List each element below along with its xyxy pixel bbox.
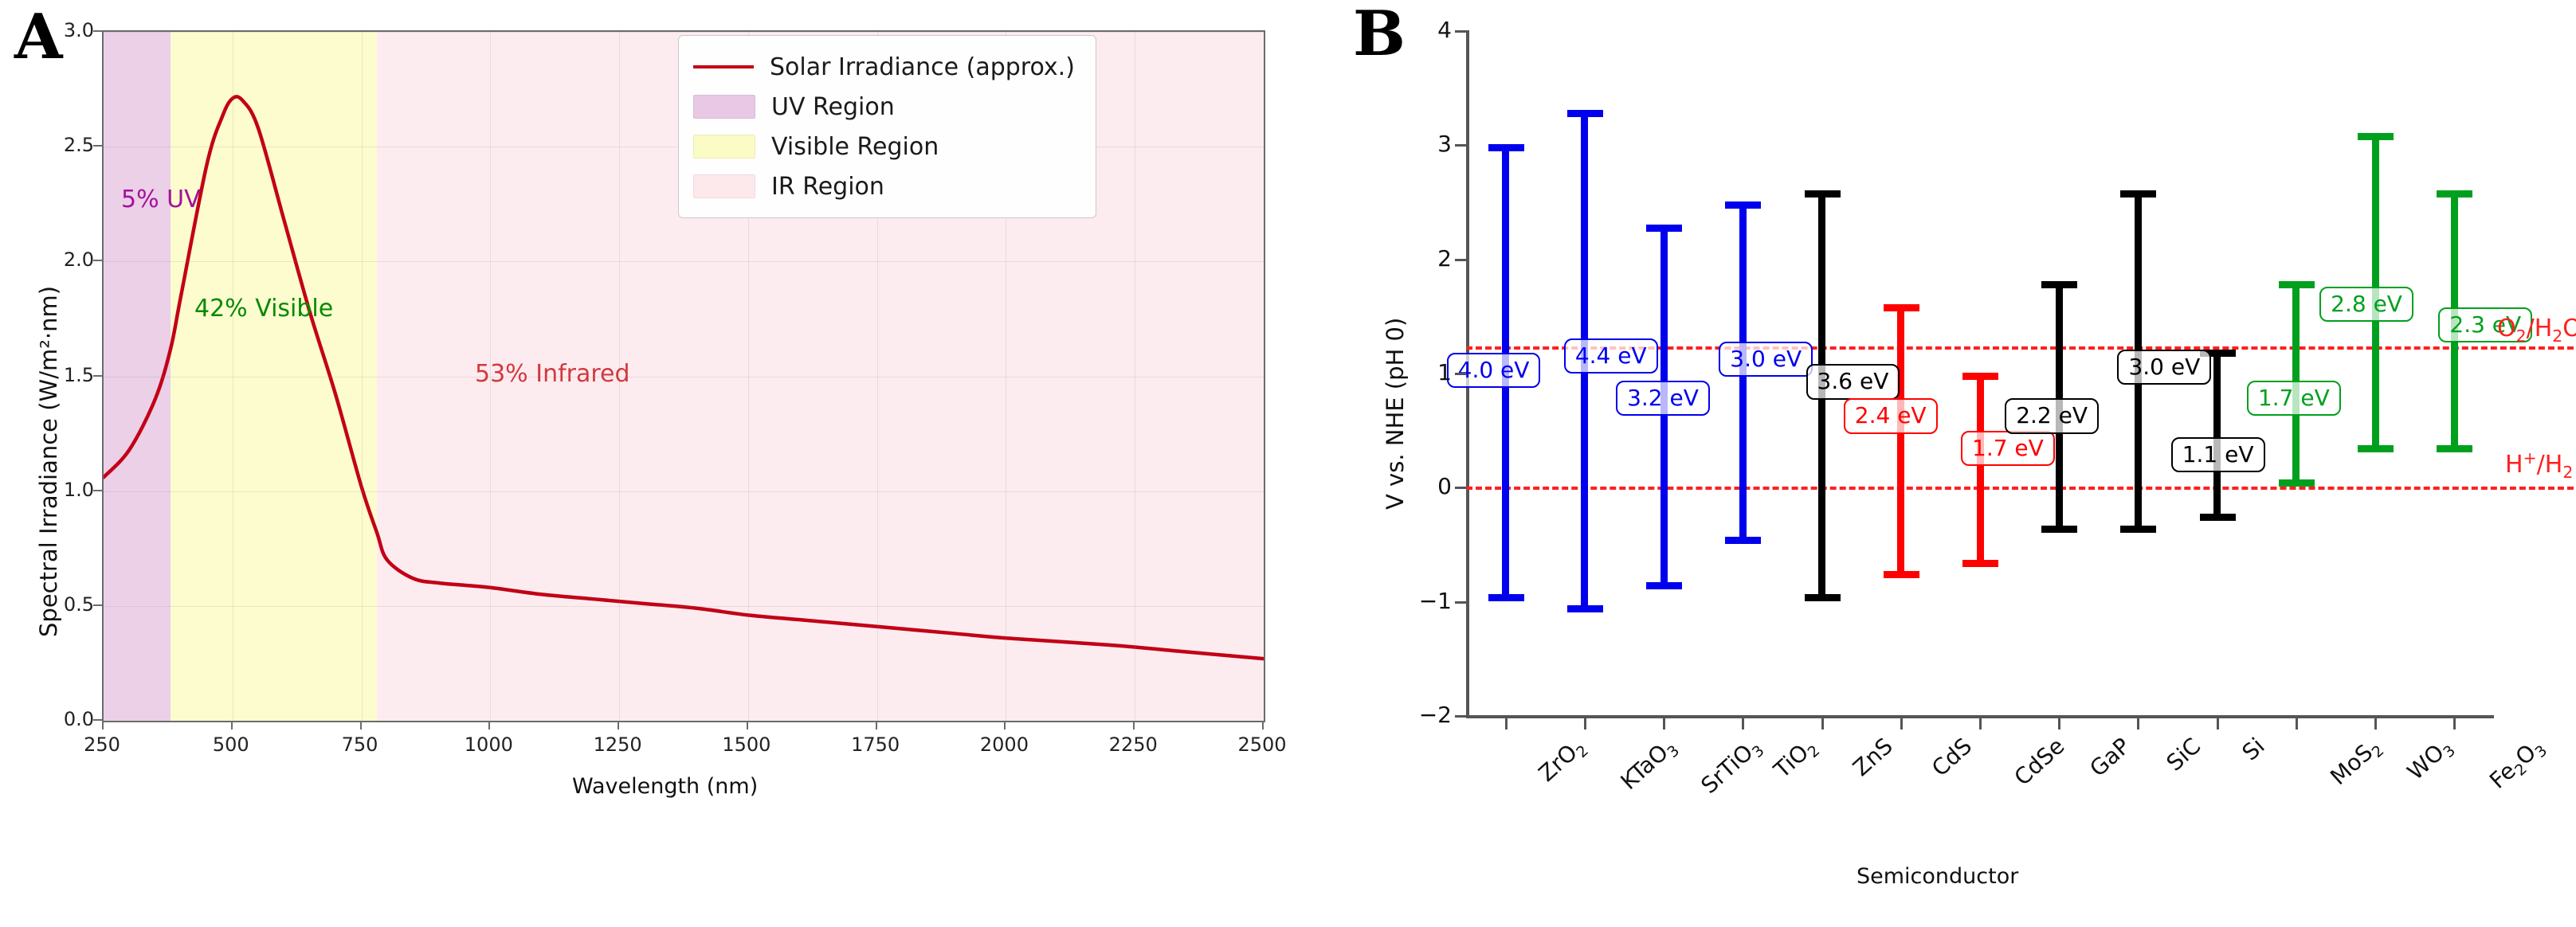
band-bar-cdse bbox=[1977, 373, 1984, 567]
panel-b-x-tickmark bbox=[1584, 718, 1586, 729]
panel-a-x-tick: 1250 bbox=[582, 733, 653, 756]
panel-b: B 4.0 eV4.4 eV3.2 eV3.0 eV3.6 eV2.4 eV1.… bbox=[1347, 0, 2576, 927]
panel-a-x-tickmark bbox=[1262, 721, 1264, 729]
panel-a-x-tickmark bbox=[747, 721, 748, 729]
panel-a-x-tickmark bbox=[102, 721, 104, 729]
panel-a-y-tickmark bbox=[93, 260, 102, 261]
band-cap-top-cds bbox=[1884, 304, 1919, 311]
panel-a-y-tick: 0.5 bbox=[49, 593, 94, 616]
panel-a-y-tickmark bbox=[93, 30, 102, 32]
panel-a-x-tick: 1500 bbox=[712, 733, 782, 756]
panel-a-x-tickmark bbox=[488, 721, 490, 729]
panel-b-y-tick: 3 bbox=[1404, 131, 1452, 157]
panel-a-y-tick: 1.0 bbox=[49, 479, 94, 501]
band-cap-top-srtio3 bbox=[1646, 225, 1682, 232]
band-cap-bottom-gap bbox=[2041, 526, 2077, 533]
panel-b-y-tick: 4 bbox=[1404, 17, 1452, 43]
panel-a-y-tick: 3.0 bbox=[49, 19, 94, 41]
panel-a-legend: Solar Irradiance (approx.) UV Region Vis… bbox=[678, 35, 1096, 218]
panel-b-x-tickmark bbox=[2453, 718, 2456, 729]
band-cap-top-zns bbox=[1805, 190, 1841, 198]
panel-b-y-tick: 1 bbox=[1404, 359, 1452, 385]
panel-b-y-tickmark bbox=[1455, 373, 1466, 375]
panel-a-x-tickmark bbox=[1004, 721, 1006, 729]
gridline-horizontal bbox=[104, 32, 1264, 33]
band-cap-bottom-mos2 bbox=[2279, 479, 2315, 487]
band-cap-bottom-sic bbox=[2120, 526, 2156, 533]
bandgap-label-gap: 2.2 eV bbox=[2005, 398, 2099, 433]
panel-a-y-tickmark bbox=[93, 145, 102, 147]
panel-b-x-tick-wo3: WO3 bbox=[2402, 733, 2459, 788]
panel-a-x-tick: 2500 bbox=[1227, 733, 1297, 756]
panel-b-y-tick: 2 bbox=[1404, 245, 1452, 272]
gridline-horizontal bbox=[104, 491, 1264, 492]
band-cap-top-tio2 bbox=[1725, 201, 1761, 209]
band-cap-top-fe2o3 bbox=[2437, 190, 2472, 198]
redox-label-h-h2: H+/H2 bbox=[2505, 448, 2573, 482]
annotation-infrared: 53% Infrared bbox=[475, 360, 630, 388]
legend-label: UV Region bbox=[771, 93, 895, 121]
panel-a-y-tick: 2.0 bbox=[49, 248, 94, 271]
panel-b-y-tickmark bbox=[1455, 487, 1466, 489]
band-cap-bottom-cdse bbox=[1962, 560, 1998, 567]
gridline-horizontal bbox=[104, 606, 1264, 607]
band-cap-bottom-fe2o3 bbox=[2437, 445, 2472, 452]
panel-b-y-tick: 0 bbox=[1404, 473, 1452, 499]
panel-a: A Spectral Irradiance (W/m²·nm) Waveleng… bbox=[0, 0, 1347, 927]
panel-b-x-tick-cds: CdS bbox=[1927, 733, 1977, 781]
panel-b-x-tick-tio2: TiO2 bbox=[1769, 733, 1823, 786]
bandgap-label-zns: 3.6 eV bbox=[1806, 364, 1900, 399]
panel-a-x-axis-label: Wavelength (nm) bbox=[572, 774, 758, 799]
panel-a-x-tickmark bbox=[618, 721, 619, 729]
annotation-uv: 5% UV bbox=[121, 186, 201, 213]
bandgap-label-sic: 3.0 eV bbox=[2117, 350, 2211, 385]
gridline-horizontal bbox=[104, 377, 1264, 377]
band-cap-bottom-zro2 bbox=[1488, 594, 1524, 601]
legend-swatch-ir-icon bbox=[693, 174, 755, 198]
bandgap-label-cds: 2.4 eV bbox=[1844, 398, 1938, 433]
legend-item-visible-region[interactable]: Visible Region bbox=[693, 127, 1075, 166]
band-bar-si bbox=[2213, 350, 2221, 521]
band-cap-bottom-zns bbox=[1805, 594, 1841, 601]
panel-a-x-tick: 2000 bbox=[969, 733, 1039, 756]
band-cap-top-cdse bbox=[1962, 373, 1998, 380]
bandgap-label-mos2: 1.7 eV bbox=[2247, 381, 2341, 416]
panel-b-x-tickmark bbox=[2137, 718, 2139, 729]
panel-b-y-tick: −1 bbox=[1404, 588, 1452, 614]
panel-b-plot-area: 4.0 eV4.4 eV3.2 eV3.0 eV3.6 eV2.4 eV1.7 … bbox=[1466, 30, 2494, 715]
panel-a-x-tickmark bbox=[1133, 721, 1135, 729]
redox-label-o2-h2o: O2/H2O bbox=[2497, 315, 2576, 346]
bandgap-label-tio2: 3.0 eV bbox=[1719, 342, 1813, 377]
panel-a-x-tickmark bbox=[360, 721, 362, 729]
band-cap-top-gap bbox=[2041, 281, 2077, 288]
panel-b-y-tickmark bbox=[1455, 30, 1466, 33]
bandgap-label-si: 1.1 eV bbox=[2171, 437, 2265, 472]
band-cap-bottom-tio2 bbox=[1725, 537, 1761, 544]
panel-b-x-tick-fe2o3: Fe2O3 bbox=[2484, 733, 2551, 796]
panel-b-x-tick-gap: GaP bbox=[2085, 733, 2136, 782]
bandgap-label-cdse: 1.7 eV bbox=[1961, 431, 2055, 466]
panel-b-x-tick-sic: SiC bbox=[2162, 733, 2206, 776]
panel-b-x-tickmark bbox=[1505, 718, 1508, 729]
panel-b-x-tick-zro2: ZrO2 bbox=[1533, 733, 1591, 789]
legend-item-ir-region[interactable]: IR Region bbox=[693, 166, 1075, 206]
panel-b-x-tickmark bbox=[2374, 718, 2377, 729]
band-cap-bottom-srtio3 bbox=[1646, 582, 1682, 589]
figure-root: A Spectral Irradiance (W/m²·nm) Waveleng… bbox=[0, 0, 2576, 927]
panel-a-x-tickmark bbox=[876, 721, 877, 729]
panel-b-x-tickmark bbox=[1900, 718, 1903, 729]
panel-a-y-tickmark bbox=[93, 604, 102, 606]
bandgap-label-zro2: 4.0 eV bbox=[1447, 353, 1541, 388]
panel-b-x-tick-ktao3: KTaO3 bbox=[1615, 733, 1683, 797]
panel-b-x-tickmark bbox=[1663, 718, 1665, 729]
panel-a-y-tickmark bbox=[93, 490, 102, 491]
panel-b-x-tick-cdse: CdSe bbox=[2009, 733, 2070, 791]
panel-b-x-tickmark bbox=[1979, 718, 1982, 729]
band-cap-top-zro2 bbox=[1488, 144, 1524, 151]
band-cap-bottom-si bbox=[2200, 514, 2236, 521]
band-cap-top-wo3 bbox=[2358, 133, 2394, 140]
panel-a-y-tick: 0.0 bbox=[49, 708, 94, 730]
panel-b-letter: B bbox=[1353, 3, 1406, 65]
panel-a-y-tickmark bbox=[93, 375, 102, 377]
band-cap-top-ktao3 bbox=[1567, 110, 1603, 117]
panel-a-x-tick: 750 bbox=[325, 733, 395, 756]
band-bar-cds bbox=[1897, 304, 1904, 578]
panel-a-x-tick: 500 bbox=[196, 733, 266, 756]
panel-a-y-tick: 2.5 bbox=[49, 134, 94, 156]
panel-a-x-tick: 250 bbox=[67, 733, 137, 756]
legend-item-solar-irradiance[interactable]: Solar Irradiance (approx.) bbox=[693, 47, 1075, 87]
panel-a-y-axis-label: Spectral Irradiance (W/m²·nm) bbox=[35, 286, 62, 637]
legend-label: Solar Irradiance (approx.) bbox=[770, 53, 1075, 81]
panel-b-y-tickmark bbox=[1455, 259, 1466, 261]
legend-line-swatch-icon bbox=[693, 56, 754, 78]
legend-swatch-uv-icon bbox=[693, 95, 755, 119]
band-cap-top-mos2 bbox=[2279, 281, 2315, 288]
panel-b-x-tickmark bbox=[2296, 718, 2298, 729]
panel-b-x-axis-label: Semiconductor bbox=[1857, 864, 2018, 889]
bandgap-label-wo3: 2.8 eV bbox=[2319, 287, 2413, 322]
legend-label: IR Region bbox=[771, 173, 884, 201]
panel-a-x-tickmark bbox=[231, 721, 233, 729]
bandgap-label-ktao3: 4.4 eV bbox=[1564, 338, 1658, 374]
legend-label: Visible Region bbox=[771, 133, 939, 161]
redox-line-h-h2 bbox=[1466, 487, 2576, 490]
legend-item-uv-region[interactable]: UV Region bbox=[693, 87, 1075, 127]
panel-a-y-tick: 1.5 bbox=[49, 364, 94, 386]
panel-a-x-tick: 2250 bbox=[1098, 733, 1168, 756]
legend-swatch-visible-icon bbox=[693, 135, 755, 158]
gridline-vertical bbox=[1264, 32, 1264, 721]
panel-b-x-tickmark bbox=[2058, 718, 2060, 729]
panel-b-y-tick: −2 bbox=[1404, 702, 1452, 728]
panel-a-x-tick: 1750 bbox=[841, 733, 911, 756]
panel-b-y-tickmark bbox=[1455, 715, 1466, 718]
annotation-visible: 42% Visible bbox=[194, 295, 333, 323]
panel-a-y-tickmark bbox=[93, 719, 102, 721]
panel-b-x-tickmark bbox=[1742, 718, 1744, 729]
band-cap-bottom-ktao3 bbox=[1567, 605, 1603, 612]
panel-b-x-tick-zns: ZnS bbox=[1848, 733, 1898, 781]
panel-b-x-tick-srtio3: SrTiO3 bbox=[1696, 733, 1768, 801]
panel-b-y-tickmark bbox=[1455, 144, 1466, 147]
band-cap-bottom-cds bbox=[1884, 571, 1919, 578]
panel-a-x-tick: 1000 bbox=[453, 733, 523, 756]
panel-b-x-tick-mos2: MoS2 bbox=[2325, 733, 2387, 793]
panel-b-x-tick-si: Si bbox=[2237, 733, 2269, 766]
band-cap-top-sic bbox=[2120, 190, 2156, 198]
panel-b-x-tickmark bbox=[2217, 718, 2219, 729]
band-cap-bottom-wo3 bbox=[2358, 445, 2394, 452]
bandgap-label-srtio3: 3.2 eV bbox=[1616, 381, 1710, 416]
panel-b-x-tickmark bbox=[1821, 718, 1824, 729]
gridline-horizontal bbox=[104, 261, 1264, 262]
panel-b-y-tickmark bbox=[1455, 601, 1466, 604]
